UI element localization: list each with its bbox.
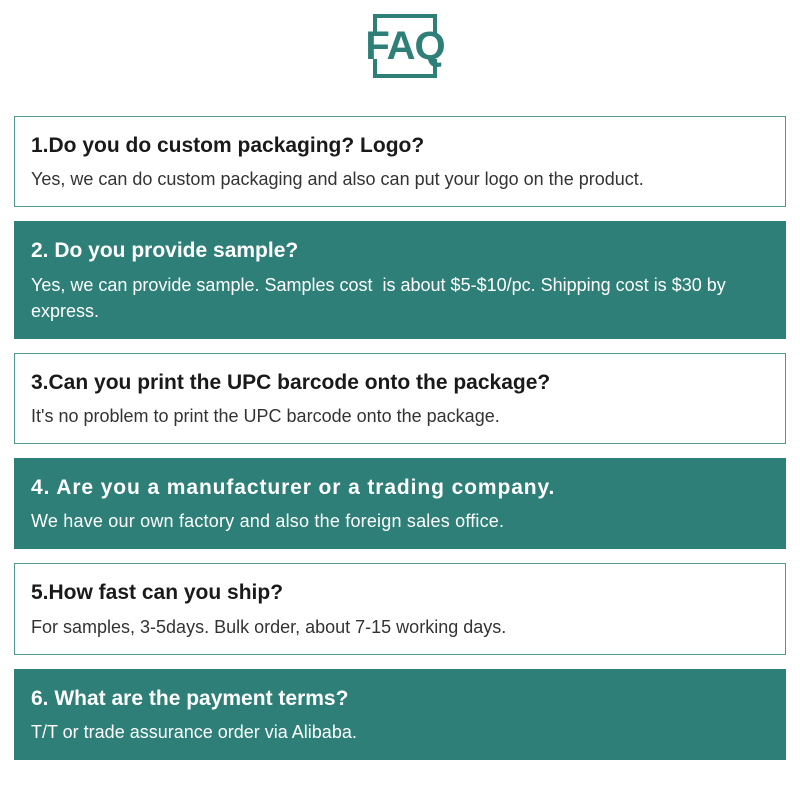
faq-item-5: 5.How fast can you ship? For samples, 3-… (14, 563, 786, 654)
faq-item-6: 6. What are the payment terms? T/T or tr… (14, 669, 786, 760)
faq-logo: FAQ (373, 14, 437, 78)
faq-list: 1.Do you do custom packaging? Logo? Yes,… (14, 116, 786, 774)
faq-item-4: 4. Are you a manufacturer or a trading c… (14, 458, 786, 549)
faq-item-2: 2. Do you provide sample? Yes, we can pr… (14, 221, 786, 338)
faq-page: FAQ 1.Do you do custom packaging? Logo? … (0, 0, 800, 796)
faq-question-6: 6. What are the payment terms? (31, 686, 769, 712)
faq-answer-3: It's no problem to print the UPC barcode… (31, 403, 769, 429)
page-title: FAQ (365, 26, 444, 66)
faq-item-1: 1.Do you do custom packaging? Logo? Yes,… (14, 116, 786, 207)
faq-answer-6: T/T or trade assurance order via Alibaba… (31, 719, 769, 745)
page-header: FAQ (0, 0, 800, 100)
faq-item-3: 3.Can you print the UPC barcode onto the… (14, 353, 786, 444)
faq-answer-4: We have our own factory and also the for… (31, 508, 769, 534)
faq-answer-2: Yes, we can provide sample. Samples cost… (31, 272, 769, 324)
faq-question-4: 4. Are you a manufacturer or a trading c… (31, 475, 769, 501)
faq-question-3: 3.Can you print the UPC barcode onto the… (31, 370, 769, 396)
faq-question-2: 2. Do you provide sample? (31, 238, 769, 264)
faq-answer-5: For samples, 3-5days. Bulk order, about … (31, 614, 769, 640)
faq-question-5: 5.How fast can you ship? (31, 580, 769, 606)
faq-answer-1: Yes, we can do custom packaging and also… (31, 166, 769, 192)
faq-question-1: 1.Do you do custom packaging? Logo? (31, 133, 769, 159)
